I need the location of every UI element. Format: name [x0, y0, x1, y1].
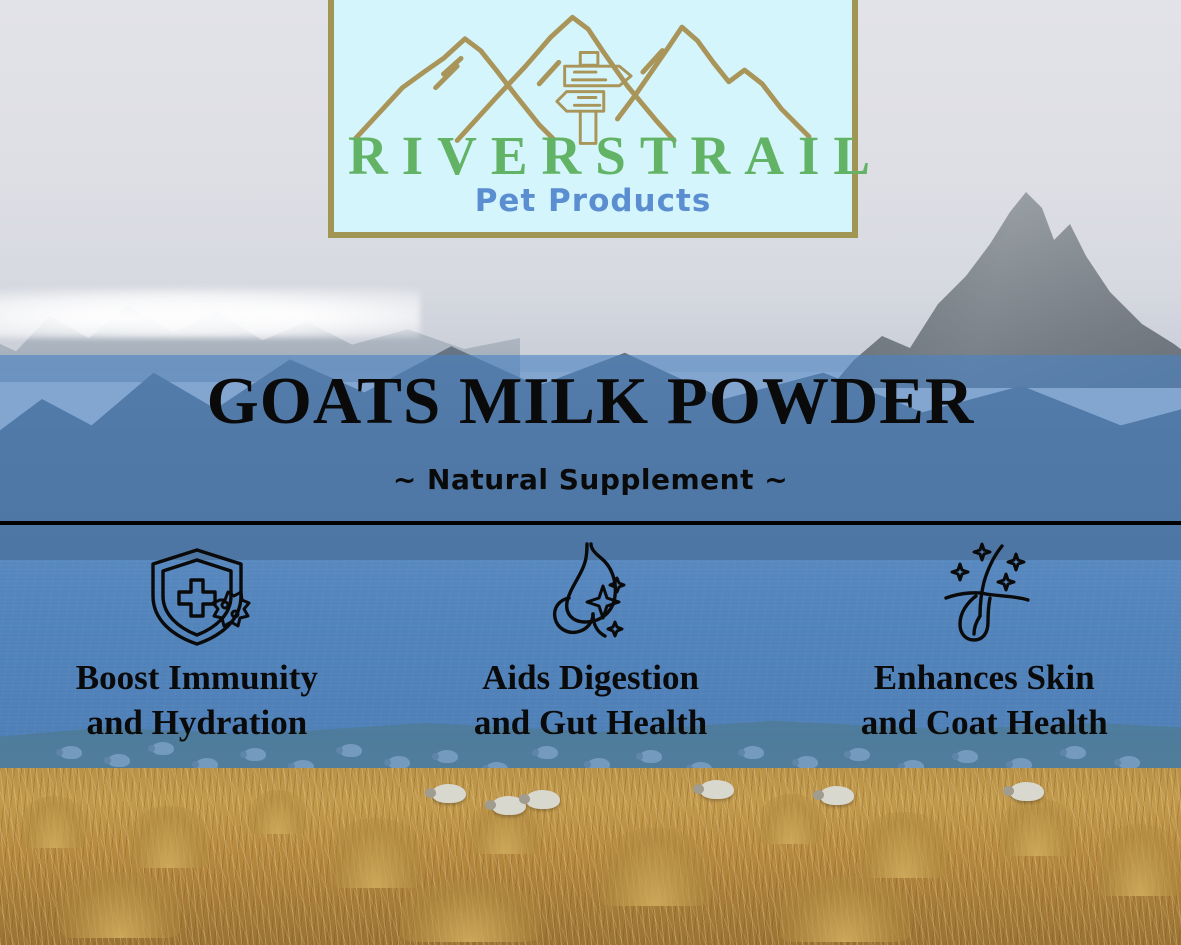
benefit-label: Enhances Skin and Coat Health	[861, 656, 1108, 746]
benefit-label: Aids Digestion and Gut Health	[474, 656, 707, 746]
benefit-item-skin-coat: Enhances Skin and Coat Health	[787, 536, 1181, 766]
brand-name: RIVERSTRAIL	[334, 128, 852, 183]
horizontal-divider-rule	[0, 521, 1181, 525]
shield-cross-germ-icon	[137, 542, 257, 650]
benefits-row: Boost Immunity and Hydration Aids Digest…	[0, 536, 1181, 766]
cloud-layer	[0, 286, 420, 338]
brand-tagline: Pet Products	[334, 186, 852, 217]
benefit-label: Boost Immunity and Hydration	[76, 656, 318, 746]
hair-follicle-sparkle-icon	[924, 542, 1044, 650]
product-title: GOATS MILK POWDER	[0, 368, 1181, 435]
product-subtitle: ~ Natural Supplement ~	[0, 466, 1181, 494]
product-label-graphic: RIVERSTRAIL Pet Products GOATS MILK POWD…	[0, 0, 1181, 945]
brand-logo-box[interactable]: RIVERSTRAIL Pet Products	[328, 0, 858, 238]
stomach-sparkle-icon	[531, 542, 651, 650]
benefit-item-immunity: Boost Immunity and Hydration	[0, 536, 394, 766]
benefit-item-digestion: Aids Digestion and Gut Health	[394, 536, 788, 766]
